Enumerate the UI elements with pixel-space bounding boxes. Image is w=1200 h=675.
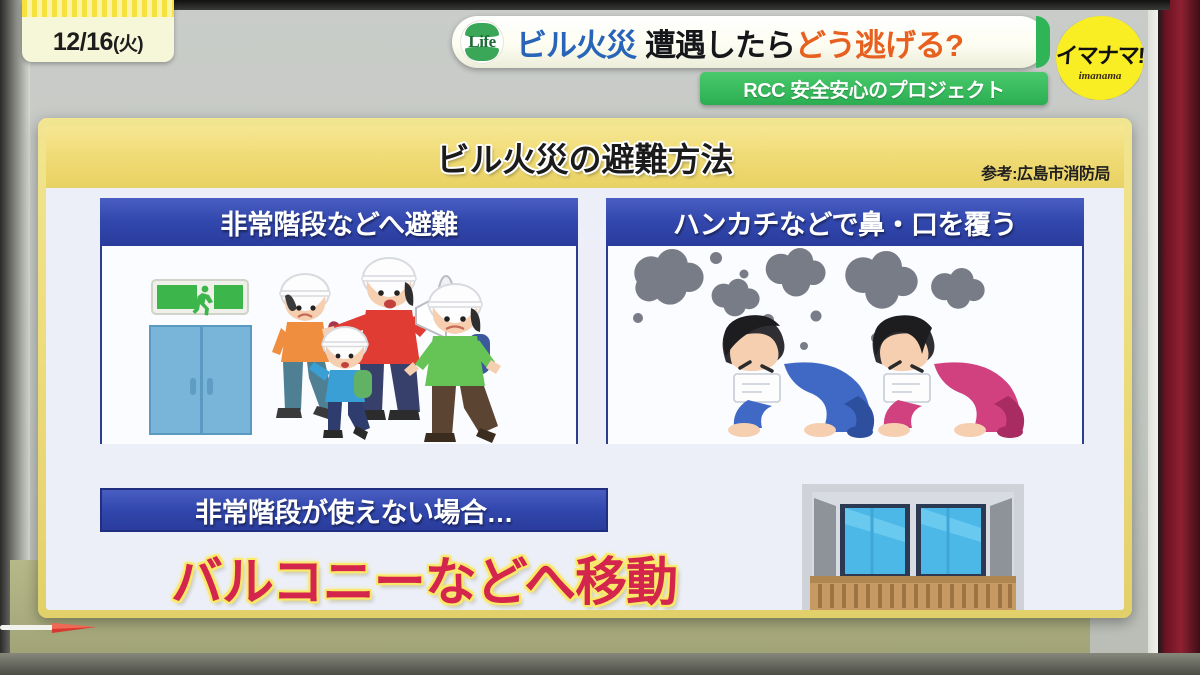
studio-wall-right-red xyxy=(1158,0,1200,675)
date-badge-stripes xyxy=(22,0,174,17)
card-emergency-stairs-heading: 非常階段などへ避難 xyxy=(220,203,457,242)
info-board-inner: ビル火災の避難方法 参考:広島市消防局 非常階段などへ避難 xyxy=(46,126,1124,610)
project-subbar: RCC 安全安心のプロジェクト xyxy=(700,72,1048,105)
card-cover-nose-mouth-body xyxy=(608,246,1082,444)
card-emergency-stairs-header: 非常階段などへ避難 xyxy=(100,198,578,246)
pointer-stick-icon xyxy=(0,620,110,636)
crawling-under-smoke-illustration xyxy=(608,246,1082,444)
handkerchief-icon xyxy=(734,374,780,402)
board-title: ビル火災の避難方法 xyxy=(437,133,734,181)
card-cover-nose-mouth-heading: ハンカチなどで鼻・口を覆う xyxy=(673,203,1017,242)
board-header: ビル火災の避難方法 参考:広島市消防局 xyxy=(46,126,1124,188)
headline-topic: ビル火災 xyxy=(516,28,636,63)
info-board: ビル火災の避難方法 参考:広島市消防局 非常階段などへ避難 xyxy=(38,118,1132,618)
studio-ceiling-shadow xyxy=(170,0,1170,10)
life-logo-label: Life xyxy=(468,32,495,52)
double-door-icon xyxy=(150,326,251,434)
program-logo: イマナマ! imanama xyxy=(1052,12,1148,104)
card-cover-nose-mouth-header: ハンカチなどで鼻・口を覆う xyxy=(606,198,1084,246)
headline-question: どう逃げる? xyxy=(795,28,963,63)
handkerchief-icon xyxy=(884,374,930,402)
card-emergency-stairs-body xyxy=(102,246,576,444)
presenter-pointer xyxy=(0,620,110,636)
date-value: 12/16 xyxy=(53,28,113,56)
evacuation-illustration xyxy=(102,246,576,444)
life-logo-icon: Life xyxy=(460,20,504,64)
broadcast-screen: 12/16(火) Life ビル火災遭遇したらどう逃げる? RCC 安全安心のプ… xyxy=(0,0,1200,675)
conclusion-text: バルコニーなどへ移動 xyxy=(171,540,677,611)
studio-floor xyxy=(0,653,1200,675)
balcony-illustration xyxy=(788,478,1038,610)
date-badge-text: 12/16(火) xyxy=(53,28,143,57)
bottom-condition-banner: 非常階段が使えない場合… xyxy=(100,488,608,532)
card-cover-nose-mouth: ハンカチなどで鼻・口を覆う xyxy=(606,198,1084,444)
program-logo-label: イマナマ! xyxy=(1055,38,1145,70)
bottom-condition-text: 非常階段が使えない場合… xyxy=(195,491,513,530)
conclusion-callout: バルコニーなどへ移動 xyxy=(94,541,754,610)
headline-lead: 遭遇したら xyxy=(645,28,795,63)
board-source-credit: 参考:広島市消防局 xyxy=(981,160,1110,184)
date-weekday: (火) xyxy=(113,34,143,55)
date-badge: 12/16(火) xyxy=(22,0,174,62)
project-subbar-text: RCC 安全安心のプロジェクト xyxy=(743,74,1004,103)
balcony-illustration-wrap xyxy=(788,478,1038,610)
headline-text: ビル火災遭遇したらどう逃げる? xyxy=(516,20,963,65)
card-emergency-stairs: 非常階段などへ避難 xyxy=(100,198,578,444)
headline-bar: Life ビル火災遭遇したらどう逃げる? xyxy=(452,16,1046,68)
emergency-exit-sign-icon xyxy=(152,280,248,316)
program-logo-romaji: imanama xyxy=(1052,70,1148,82)
